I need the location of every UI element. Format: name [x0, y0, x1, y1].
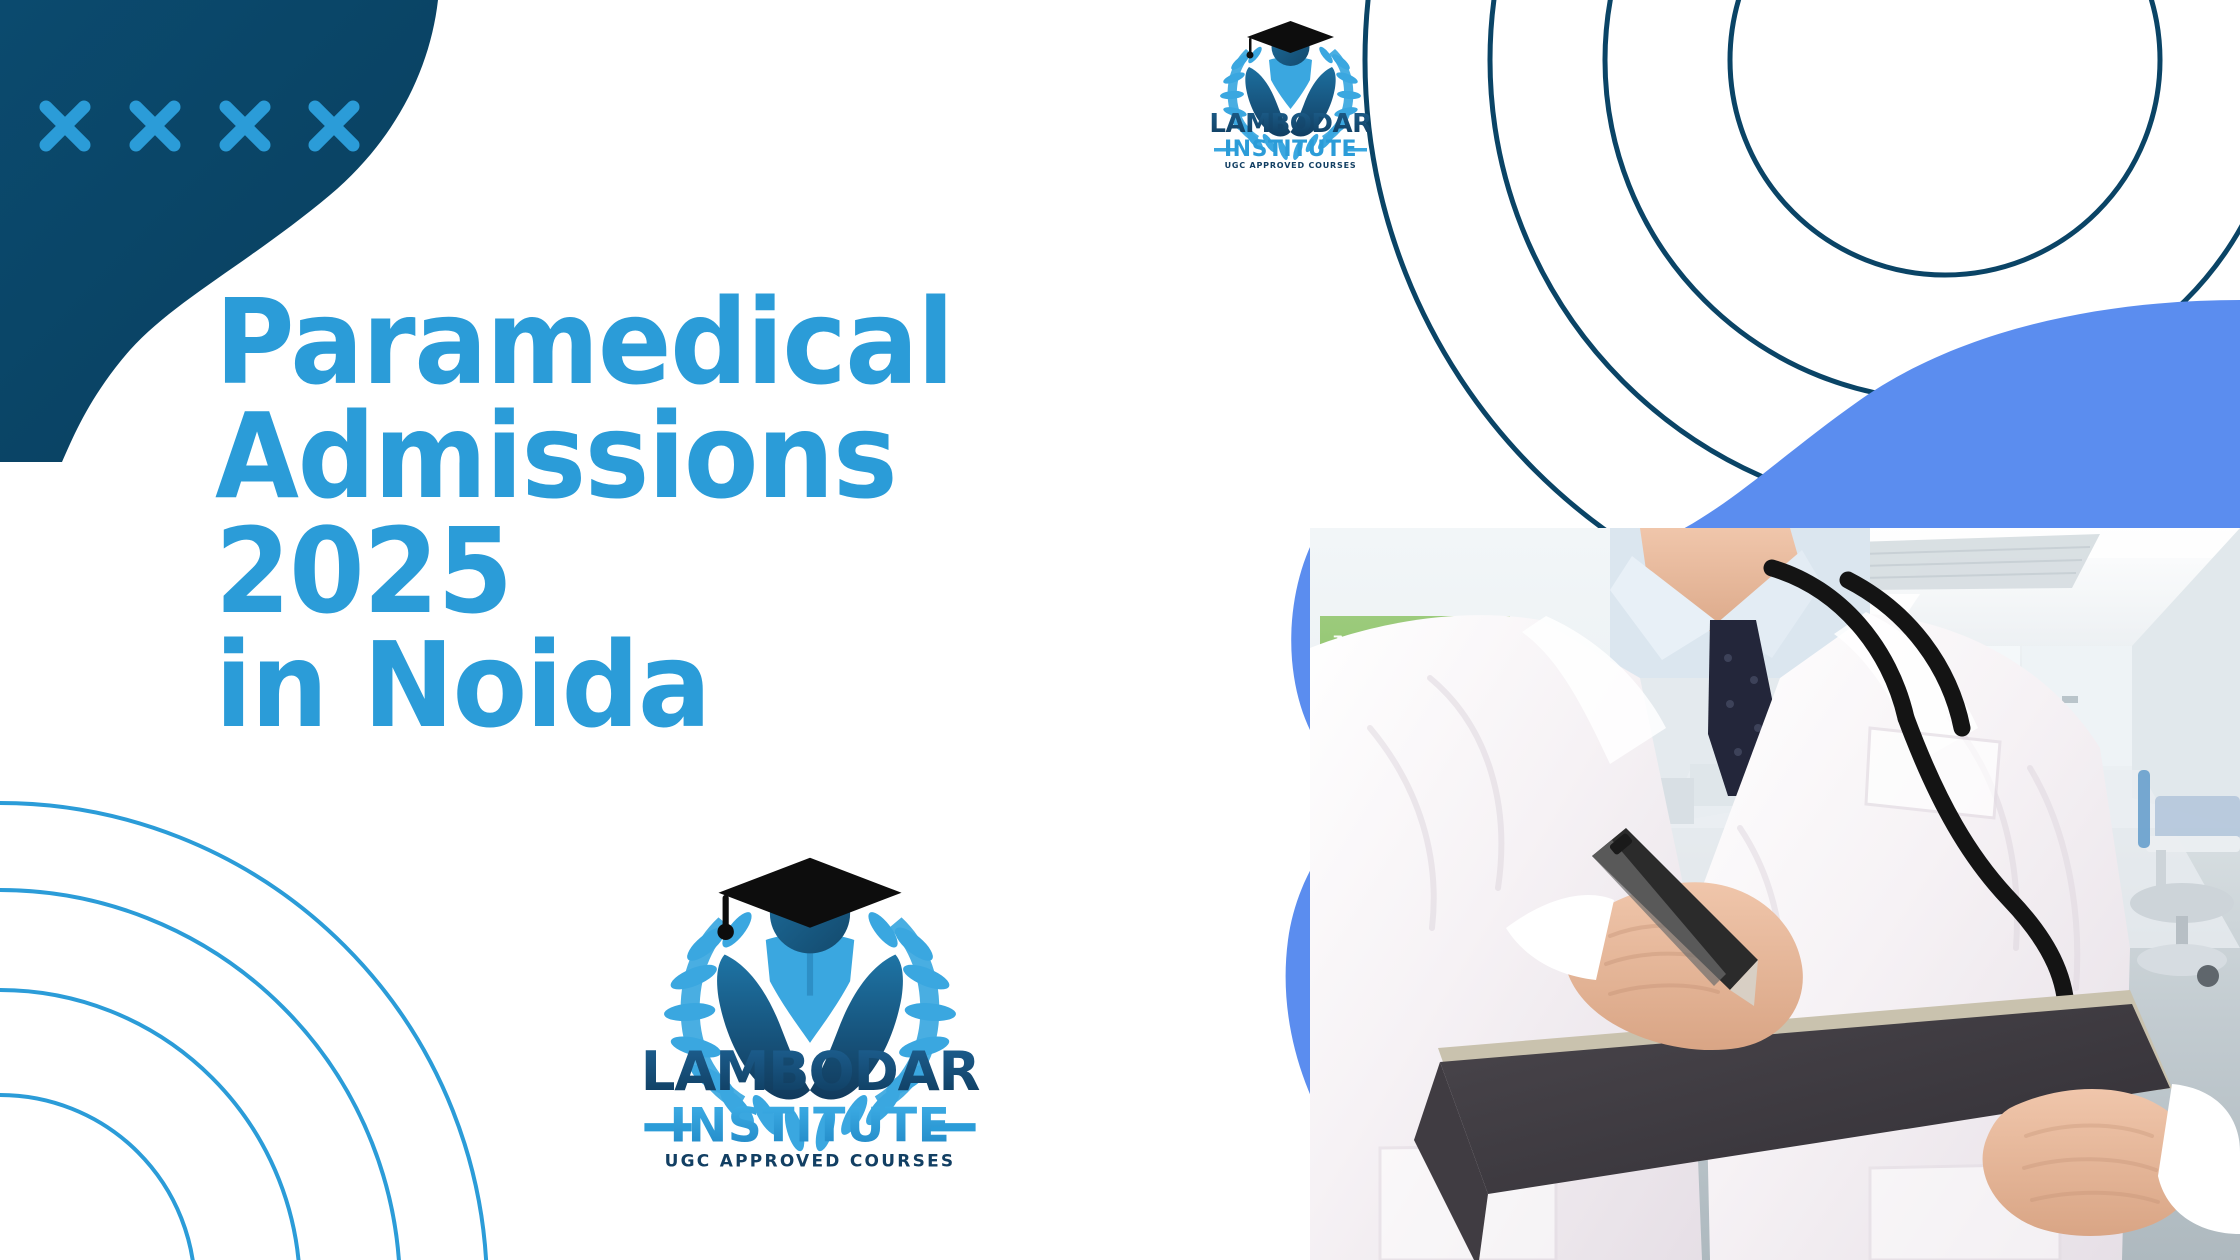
brand-logo-main: LAMBODAR INSTITUTE UGC APPROVED COURSES [630, 845, 990, 1175]
x-mark-icon [136, 107, 174, 145]
brand-tagline-main: UGC APPROVED COURSES [665, 1151, 956, 1171]
page-title: Paramedical Admissions 2025 in Noida [215, 285, 1190, 743]
x-mark-icon [46, 107, 84, 145]
graduation-cap-icon [1247, 21, 1335, 65]
brand-name-top: LAMBODAR [1209, 109, 1372, 139]
doctor-photo: Medical health PRIM [1310, 528, 2240, 1260]
brand-logo-top: LAMBODAR INSTITUTE UGC APPROVED COURSES [1203, 14, 1378, 174]
poster-canvas: Paramedical Admissions 2025 in Noida [0, 0, 2240, 1260]
supporting-hand [1983, 1084, 2240, 1236]
brand-name-main: LAMBODAR [641, 1039, 980, 1103]
brand-subtitle-top: INSTITUTE [1224, 137, 1357, 162]
ceiling-grille [1855, 534, 2100, 590]
x-mark-decorations [0, 0, 420, 200]
arc-decoration-bottom-left [0, 803, 487, 1260]
x-mark-icon [226, 107, 264, 145]
brand-tagline-top: UGC APPROVED COURSES [1225, 161, 1357, 170]
brand-subtitle-main: INSTITUTE [670, 1099, 951, 1154]
x-mark-icon [315, 107, 353, 145]
